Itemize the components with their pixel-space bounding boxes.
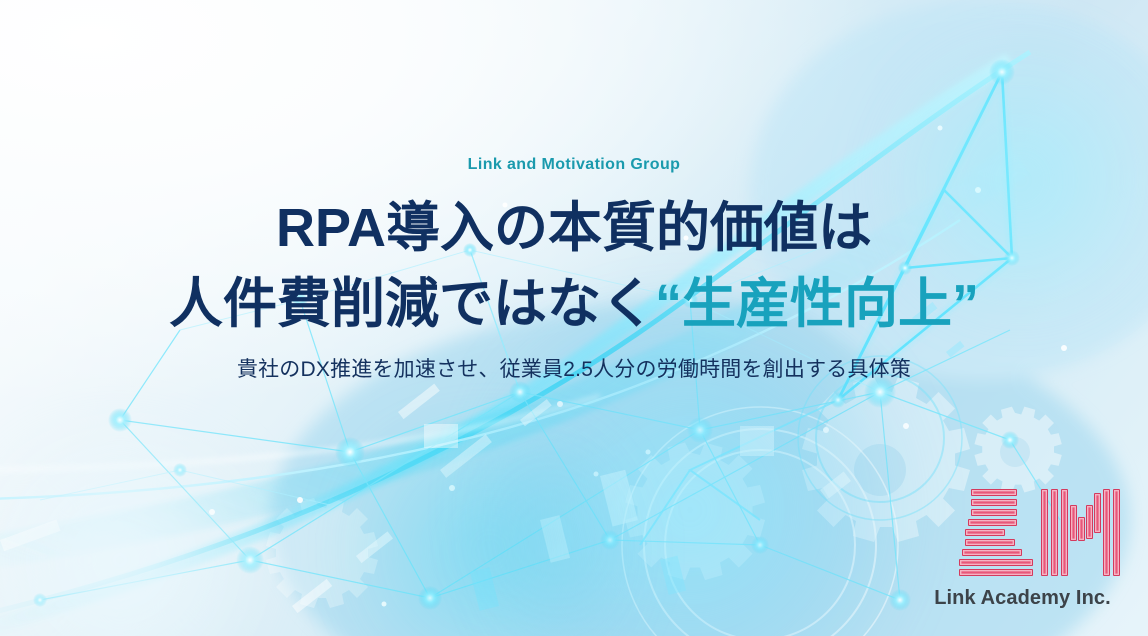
hero-banner: Link and Motivation Group RPA導入の本質的価値は 人…: [0, 0, 1148, 636]
headline-line-1: RPA導入の本質的価値は: [0, 196, 1148, 260]
subtitle-text: 貴社のDX推進を加速させ、従業員2.5人分の労働時間を創出する具体策: [0, 355, 1148, 385]
quote-close: ”: [952, 274, 979, 334]
headline-line-2-prefix: 人件費削減ではなく: [169, 274, 655, 334]
eyebrow-text: Link and Motivation Group: [0, 156, 1148, 174]
hero-content: Link and Motivation Group RPA導入の本質的価値は 人…: [0, 0, 1148, 636]
headline-emphasis: 生産性向上: [682, 274, 952, 334]
company-name: Link Academy Inc.: [915, 587, 1130, 610]
quote-open: “: [655, 274, 682, 334]
logo-block: Link Academy Inc.: [915, 487, 1130, 617]
lm-logo-mark: [957, 487, 1089, 579]
headline-line-2: 人件費削減ではなく“生産性向上”: [0, 272, 1148, 336]
